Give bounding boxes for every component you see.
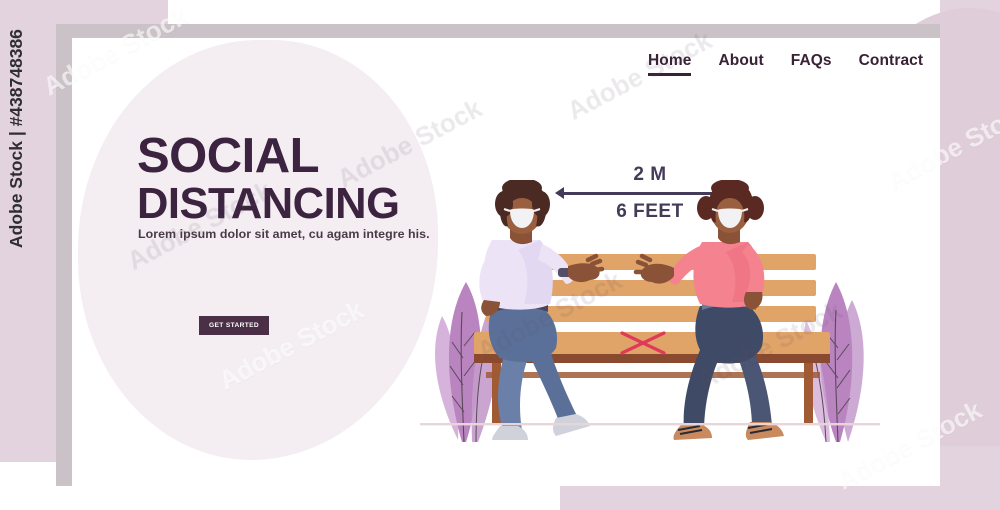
social-distancing-illustration — [400, 180, 900, 460]
main-navigation: Home About FAQs Contract — [648, 52, 923, 70]
nav-item-faqs[interactable]: FAQs — [791, 52, 832, 70]
screenshot-canvas: Home About FAQs Contract SOCIAL DISTANCI… — [0, 0, 1000, 510]
nav-item-contract[interactable]: Contract — [859, 52, 924, 70]
pigtail-left — [697, 196, 715, 220]
title-line-1: SOCIAL — [137, 133, 497, 180]
shoe-left — [492, 426, 528, 440]
illustration-scene — [400, 180, 900, 460]
get-started-button[interactable]: GET STARTED — [199, 316, 269, 335]
nav-item-home[interactable]: Home — [648, 52, 691, 70]
pigtail-right — [746, 196, 764, 220]
ground-line — [420, 423, 880, 425]
nav-item-about[interactable]: About — [718, 52, 763, 70]
stock-id-label: Adobe Stock | #438748386 — [6, 29, 27, 248]
hand-right-waving — [568, 263, 600, 282]
